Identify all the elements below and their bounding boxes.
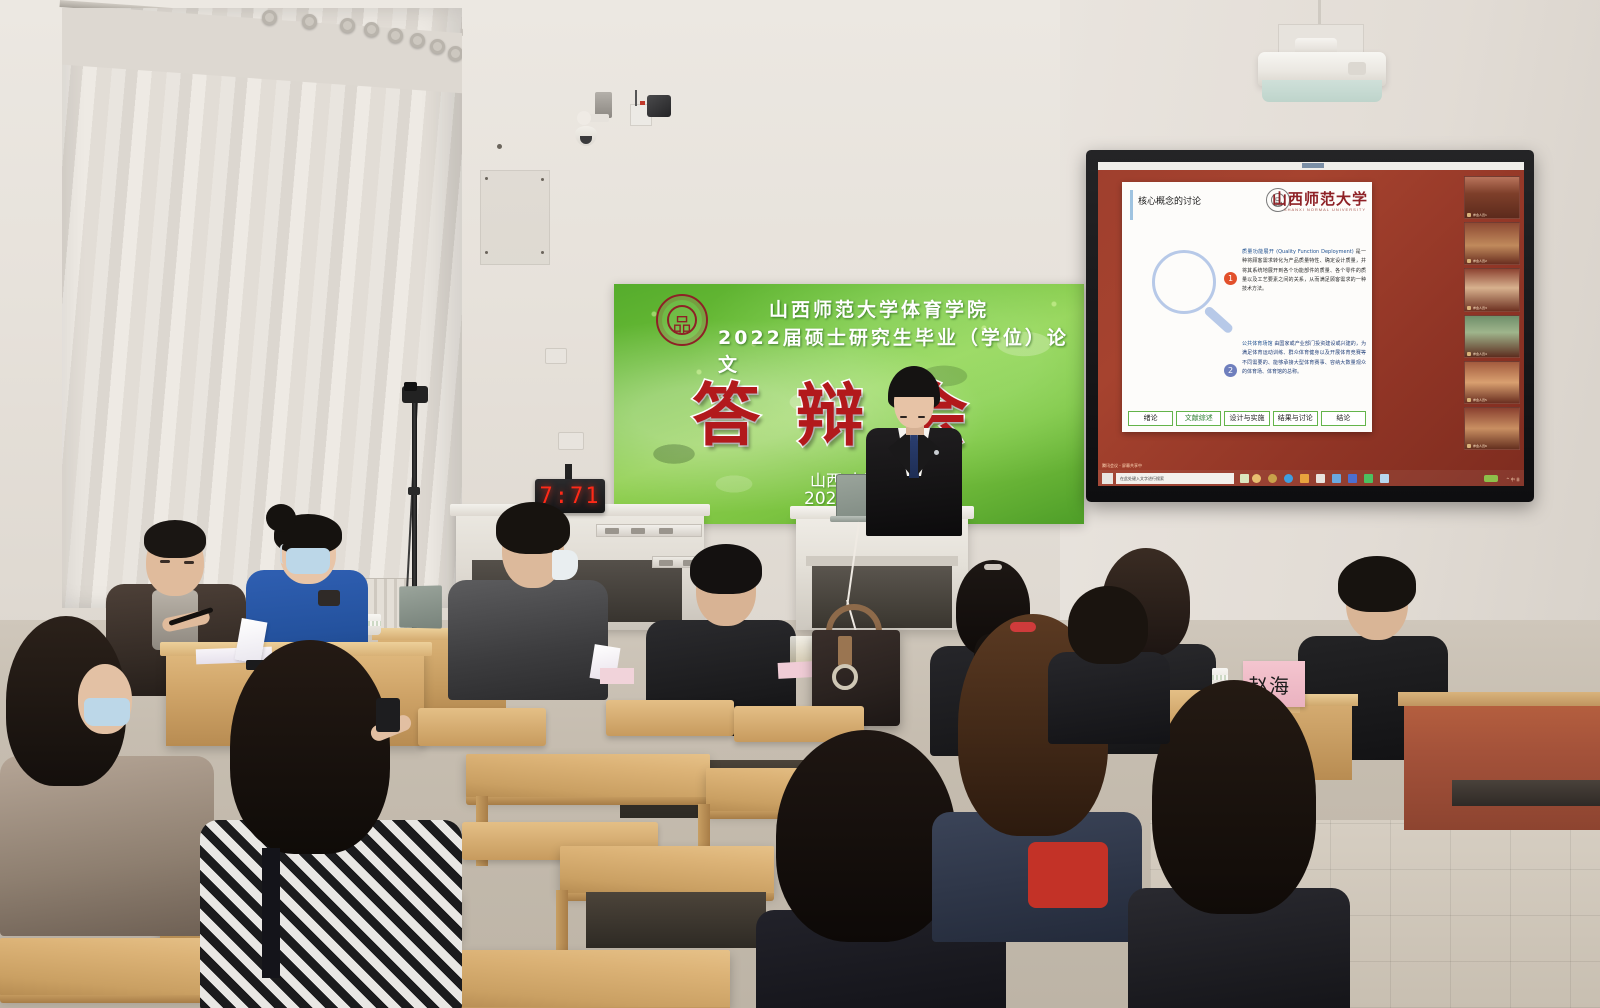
slide-paragraph-1: 质量功能展开 (Quality Function Deployment) 是一种… [1242, 248, 1366, 294]
presenter-eye-left [900, 416, 907, 418]
vc-label: 参会人员5 [1473, 398, 1487, 402]
cortana-icon[interactable] [1240, 474, 1249, 483]
tripod-camera-lens [404, 382, 417, 391]
foreground-audience-left [0, 616, 200, 916]
slide-university-logo-sub: SHANXI NORMAL UNIVERSITY [1284, 207, 1366, 212]
curtain-grommets [62, 8, 462, 70]
vc-video-feed [1465, 269, 1519, 310]
system-tray[interactable]: ^ 中 ㊐ [1506, 477, 1520, 483]
handbag-tab [838, 636, 852, 666]
hair-tie [984, 564, 1002, 570]
adapter-indicator [640, 101, 645, 105]
presenter-lapel-pin [934, 450, 939, 455]
seat-back[interactable] [606, 700, 734, 736]
presenter-fringe [889, 378, 939, 397]
hair-tie [1010, 622, 1036, 632]
magnifier-icon [1152, 250, 1216, 314]
committee-member-hair [144, 520, 206, 558]
slide-title: 核心概念的讨论 [1138, 194, 1201, 207]
slide-tab-3[interactable]: 结果与讨论 [1273, 411, 1318, 426]
vc-participant-tile[interactable]: 参会人员3 [1464, 268, 1520, 311]
shared-window-title: 腾讯会议 - 屏幕共享中 [1102, 463, 1142, 469]
desk-underside [586, 892, 766, 948]
foreground-hair [776, 730, 956, 942]
vc-participant-tile[interactable]: 参会人员1 [1464, 176, 1520, 219]
slide-heading-2: 公共体育场馆 [1242, 341, 1273, 347]
face-mask-icon [286, 548, 330, 574]
mic-icon [1467, 213, 1471, 217]
mail-icon[interactable] [1332, 474, 1341, 483]
smartphone-icon[interactable] [318, 590, 340, 606]
vc-label: 参会人员4 [1473, 352, 1487, 356]
student-desk[interactable] [466, 754, 710, 798]
slide-tab-2[interactable]: 设计与实施 [1224, 411, 1269, 426]
camera-ball-joint [577, 111, 591, 125]
handbag-ring [832, 664, 858, 690]
audience-hair [1338, 556, 1416, 612]
mic-icon [1467, 306, 1471, 310]
taskbar-search-input[interactable]: 在此处键入文字进行搜索 [1116, 473, 1234, 484]
raised-platform [1404, 700, 1600, 830]
audience-jacket [448, 580, 608, 700]
audience-member-grey-jacket [448, 498, 608, 698]
audience-jacket [1048, 652, 1170, 744]
wechat-icon[interactable] [1364, 474, 1373, 483]
wall-socket[interactable] [545, 348, 567, 364]
vc-video-feed [1465, 316, 1519, 357]
banner-institution-line: 山西师范大学体育学院 [769, 295, 989, 322]
board-topbar [1098, 162, 1524, 170]
red-scarf [1028, 842, 1108, 908]
slide-title-accent [1130, 190, 1133, 220]
presenter-eye-right [918, 416, 925, 418]
mic-icon [1467, 352, 1471, 356]
wall-power-adapter-icon [647, 95, 671, 117]
audience-hair [496, 502, 570, 554]
classroom-scene: 山西师范大学体育学院 2022届硕士研究生毕业（学位）论文 答辩会 山西·太原 … [0, 0, 1600, 1008]
slide-bullet-number-1: 1 [1224, 272, 1237, 285]
audience-hair [690, 544, 762, 594]
magnifier-handle-icon [1203, 305, 1234, 334]
vc-participant-tile[interactable]: 参会人员2 [1464, 222, 1520, 265]
presentation-slide: 核心概念的讨论 山西师范大学 SHANXI NORMAL UNIVERSITY … [1122, 182, 1372, 432]
slide-paragraph-2: 公共体育场馆 由国家或产业部门投资建设或兴建的，为满足体育运动训练、群众体育健身… [1242, 340, 1366, 377]
projector-lens-band [1262, 80, 1382, 102]
vc-label: 参会人员2 [1473, 259, 1487, 263]
slide-university-logo-text: 山西师范大学 [1272, 188, 1368, 209]
student-desk[interactable] [560, 846, 774, 894]
platform-top-edge [1398, 692, 1600, 706]
wall-patch-mark [480, 170, 550, 265]
vc-label: 参会人员1 [1473, 213, 1487, 217]
university-emblem-icon [656, 294, 708, 346]
vc-video-feed [1465, 362, 1519, 403]
vc-label: 参会人员3 [1473, 306, 1487, 310]
browser-icon[interactable] [1284, 474, 1293, 483]
edge-icon[interactable] [1268, 474, 1277, 483]
mic-icon [1467, 444, 1471, 448]
pink-sheet [600, 668, 634, 684]
mic-icon [1467, 398, 1471, 402]
vc-participant-tile[interactable]: 参会人员4 [1464, 315, 1520, 358]
committee-laptop[interactable] [399, 585, 442, 628]
start-button-icon[interactable] [1102, 473, 1113, 484]
foreground-hair [1152, 680, 1316, 914]
vc-video-feed [1465, 177, 1519, 218]
mic-icon [1467, 259, 1471, 263]
slide-tab-4[interactable]: 结论 [1321, 411, 1366, 426]
vc-participant-tile[interactable]: 参会人员6 [1464, 407, 1520, 450]
face-mask-icon [84, 698, 130, 726]
slide-tab-0[interactable]: 绪论 [1128, 411, 1173, 426]
smartphone-icon[interactable] [376, 698, 400, 732]
powerpoint-icon[interactable] [1380, 474, 1389, 483]
foreground-coat [0, 756, 214, 936]
slide-tab-1[interactable]: 文献综述 [1176, 411, 1221, 426]
foreground-hair [230, 640, 390, 854]
tripod-adjust-knob[interactable] [408, 487, 420, 495]
adapter-cord [635, 90, 637, 106]
audience-member-behind [1048, 586, 1168, 736]
slide-bullet-number-2: 2 [1224, 364, 1237, 377]
board-screen[interactable]: 核心概念的讨论 山西师范大学 SHANXI NORMAL UNIVERSITY … [1098, 162, 1524, 486]
vc-participant-tile[interactable]: 参会人员5 [1464, 361, 1520, 404]
foreground-audience-center-left [200, 640, 450, 1008]
slide-heading-1: 质量功能展开 (Quality Function Deployment) [1242, 249, 1354, 255]
battery-icon[interactable] [1484, 475, 1498, 482]
video-conference-strip[interactable]: 参会人员1 参会人员2 参会人员3 参会人员4 [1464, 176, 1520, 450]
store-icon[interactable] [1348, 474, 1357, 483]
projector-vent [1348, 62, 1366, 75]
committee-member-2-hair-bun [266, 504, 296, 532]
bag-strap [262, 848, 280, 978]
student-desk-front-right[interactable] [430, 950, 730, 1008]
vc-video-feed [1465, 408, 1519, 449]
pink-document [778, 661, 815, 679]
slide-body-1: 是一种将顾客需求转化为产品质量特性、确定设计质量，并将其系统地展开到各个功能部件… [1242, 249, 1366, 292]
equipment-rail [596, 524, 702, 537]
vc-label: 参会人员6 [1473, 444, 1487, 448]
audience-hair [1068, 586, 1148, 664]
interactive-smart-board[interactable]: 核心概念的讨论 山西师范大学 SHANXI NORMAL UNIVERSITY … [1086, 150, 1534, 502]
word-icon[interactable] [1316, 474, 1325, 483]
face-mask-icon [552, 550, 578, 580]
slide-section-tabs[interactable]: 绪论 文献综述 设计与实施 结果与讨论 结论 [1128, 411, 1366, 426]
task-view-icon[interactable] [1252, 474, 1261, 483]
wall-screw [497, 144, 502, 149]
presenting-student [860, 366, 964, 536]
wall-socket-lower[interactable] [558, 432, 584, 450]
wall-baseboard [1452, 780, 1600, 806]
presenter-tie [909, 434, 919, 478]
folder-icon[interactable] [1300, 474, 1309, 483]
topbar-chip [1302, 163, 1324, 168]
